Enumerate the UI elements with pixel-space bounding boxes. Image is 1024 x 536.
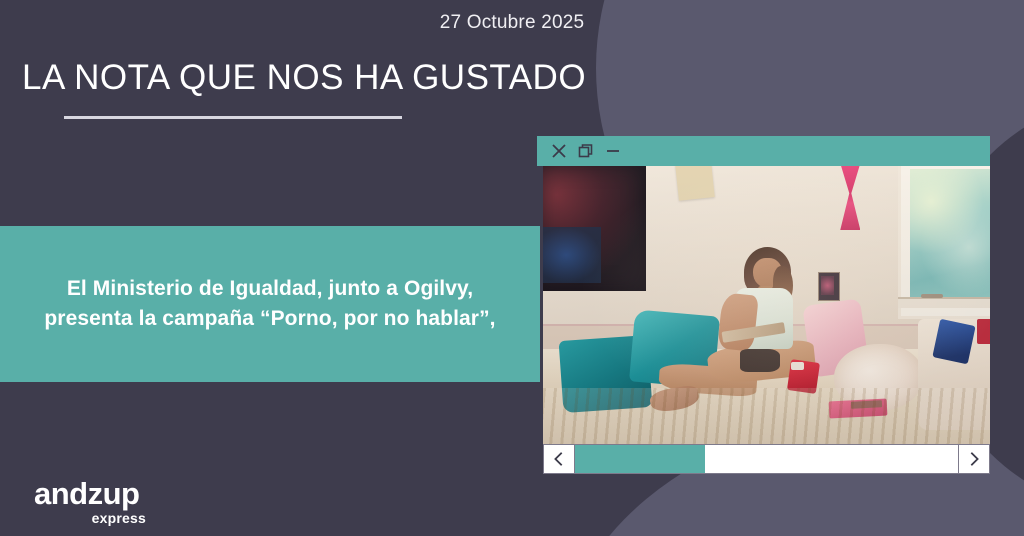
scroll-left-icon[interactable] <box>544 445 574 473</box>
media-window <box>537 136 990 474</box>
brand-logo: andzup express <box>34 478 204 525</box>
restore-window-icon[interactable] <box>577 142 595 160</box>
date-label: 27 Octubre 2025 <box>0 12 1024 34</box>
campaign-photo <box>543 166 990 444</box>
logo-wordmark: andzup <box>34 478 204 509</box>
photo-wall-paper <box>675 166 714 201</box>
logo-subtitle: express <box>34 511 146 525</box>
photo-bed-folds <box>543 388 990 444</box>
window-viewport <box>543 166 990 444</box>
photo-wall-frame-image <box>821 276 834 295</box>
page-title: LA NOTA QUE NOS HA GUSTADO <box>22 58 586 98</box>
minimize-icon[interactable] <box>604 142 622 160</box>
photo-poster-highlight <box>543 227 601 283</box>
photo-snack-label <box>791 362 804 370</box>
slide-canvas: 27 Octubre 2025 LA NOTA QUE NOS HA GUSTA… <box>0 0 1024 536</box>
title-underline-rule <box>64 116 402 119</box>
caption-band: El Ministerio de Igualdad, junto a Ogilv… <box>0 226 540 382</box>
photo-window-sill <box>898 297 990 309</box>
scroll-right-icon[interactable] <box>959 445 989 473</box>
photo-blanket-red <box>977 319 990 344</box>
scrollbar-track[interactable] <box>574 445 959 473</box>
scrollbar-thumb[interactable] <box>575 445 705 473</box>
close-icon[interactable] <box>550 142 568 160</box>
horizontal-scrollbar[interactable] <box>543 444 990 474</box>
photo-window-latch <box>921 294 943 298</box>
photo-girl-shorts <box>740 349 780 371</box>
photo-window-glass <box>910 169 990 300</box>
window-titlebar <box>537 136 990 166</box>
caption-text: El Ministerio de Igualdad, junto a Ogilv… <box>26 274 514 335</box>
